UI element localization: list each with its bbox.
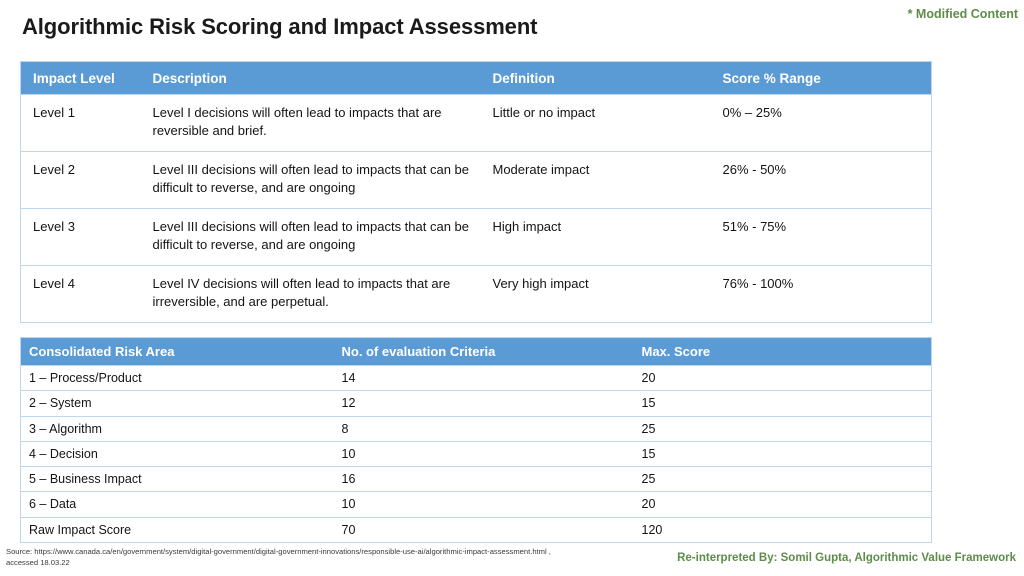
column-header-description: Description [141, 62, 481, 95]
cell-description: Level III decisions will often lead to i… [141, 208, 481, 265]
cell-definition: Moderate impact [481, 151, 711, 208]
cell-max-score: 20 [634, 492, 932, 517]
cell-risk-area: 5 – Business Impact [21, 467, 334, 492]
cell-risk-area: Raw Impact Score [21, 517, 334, 542]
source-citation: Source: https://www.canada.ca/en/governm… [6, 546, 581, 568]
cell-risk-area: 3 – Algorithm [21, 416, 334, 441]
table-row-total: Raw Impact Score 70 120 [21, 517, 932, 542]
column-header-risk-area: Consolidated Risk Area [21, 338, 334, 366]
impact-level-table: Impact Level Description Definition Scor… [20, 61, 932, 323]
cell-description: Level IV decisions will often lead to im… [141, 265, 481, 322]
credit-line: Re-interpreted By: Somil Gupta, Algorith… [677, 552, 1016, 564]
column-header-score-range: Score % Range [711, 62, 932, 95]
cell-description: Level I decisions will often lead to imp… [141, 95, 481, 152]
table-row: 6 – Data 10 20 [21, 492, 932, 517]
table-row: Level 1 Level I decisions will often lea… [21, 95, 932, 152]
cell-impact-level: Level 4 [21, 265, 141, 322]
table-header-row: Consolidated Risk Area No. of evaluation… [21, 338, 932, 366]
cell-risk-area: 1 – Process/Product [21, 366, 334, 391]
table-row: Level 4 Level IV decisions will often le… [21, 265, 932, 322]
cell-max-score: 25 [634, 467, 932, 492]
cell-risk-area: 4 – Decision [21, 441, 334, 466]
table-header-row: Impact Level Description Definition Scor… [21, 62, 932, 95]
cell-score-range: 51% - 75% [711, 208, 932, 265]
cell-criteria: 14 [334, 366, 634, 391]
table-row: 5 – Business Impact 16 25 [21, 467, 932, 492]
cell-score-range: 0% – 25% [711, 95, 932, 152]
cell-criteria: 12 [334, 391, 634, 416]
table-row: Level 2 Level III decisions will often l… [21, 151, 932, 208]
cell-score-range: 76% - 100% [711, 265, 932, 322]
column-header-criteria-count: No. of evaluation Criteria [334, 338, 634, 366]
cell-definition: Very high impact [481, 265, 711, 322]
cell-criteria: 16 [334, 467, 634, 492]
table-row: 2 – System 12 15 [21, 391, 932, 416]
cell-max-score: 25 [634, 416, 932, 441]
cell-risk-area: 2 – System [21, 391, 334, 416]
cell-max-score: 120 [634, 517, 932, 542]
table-row: Level 3 Level III decisions will often l… [21, 208, 932, 265]
consolidated-risk-area-table: Consolidated Risk Area No. of evaluation… [20, 337, 932, 543]
page-title: Algorithmic Risk Scoring and Impact Asse… [22, 14, 537, 40]
column-header-definition: Definition [481, 62, 711, 95]
cell-impact-level: Level 2 [21, 151, 141, 208]
table-row: 1 – Process/Product 14 20 [21, 366, 932, 391]
cell-criteria: 70 [334, 517, 634, 542]
cell-impact-level: Level 3 [21, 208, 141, 265]
column-header-max-score: Max. Score [634, 338, 932, 366]
cell-criteria: 10 [334, 492, 634, 517]
table-row: 3 – Algorithm 8 25 [21, 416, 932, 441]
table-row: 4 – Decision 10 15 [21, 441, 932, 466]
cell-impact-level: Level 1 [21, 95, 141, 152]
modified-content-note: * Modified Content [908, 7, 1018, 21]
cell-max-score: 15 [634, 441, 932, 466]
cell-max-score: 15 [634, 391, 932, 416]
cell-definition: Little or no impact [481, 95, 711, 152]
column-header-impact-level: Impact Level [21, 62, 141, 95]
cell-risk-area: 6 – Data [21, 492, 334, 517]
cell-max-score: 20 [634, 366, 932, 391]
cell-description: Level III decisions will often lead to i… [141, 151, 481, 208]
cell-criteria: 8 [334, 416, 634, 441]
cell-score-range: 26% - 50% [711, 151, 932, 208]
cell-criteria: 10 [334, 441, 634, 466]
cell-definition: High impact [481, 208, 711, 265]
